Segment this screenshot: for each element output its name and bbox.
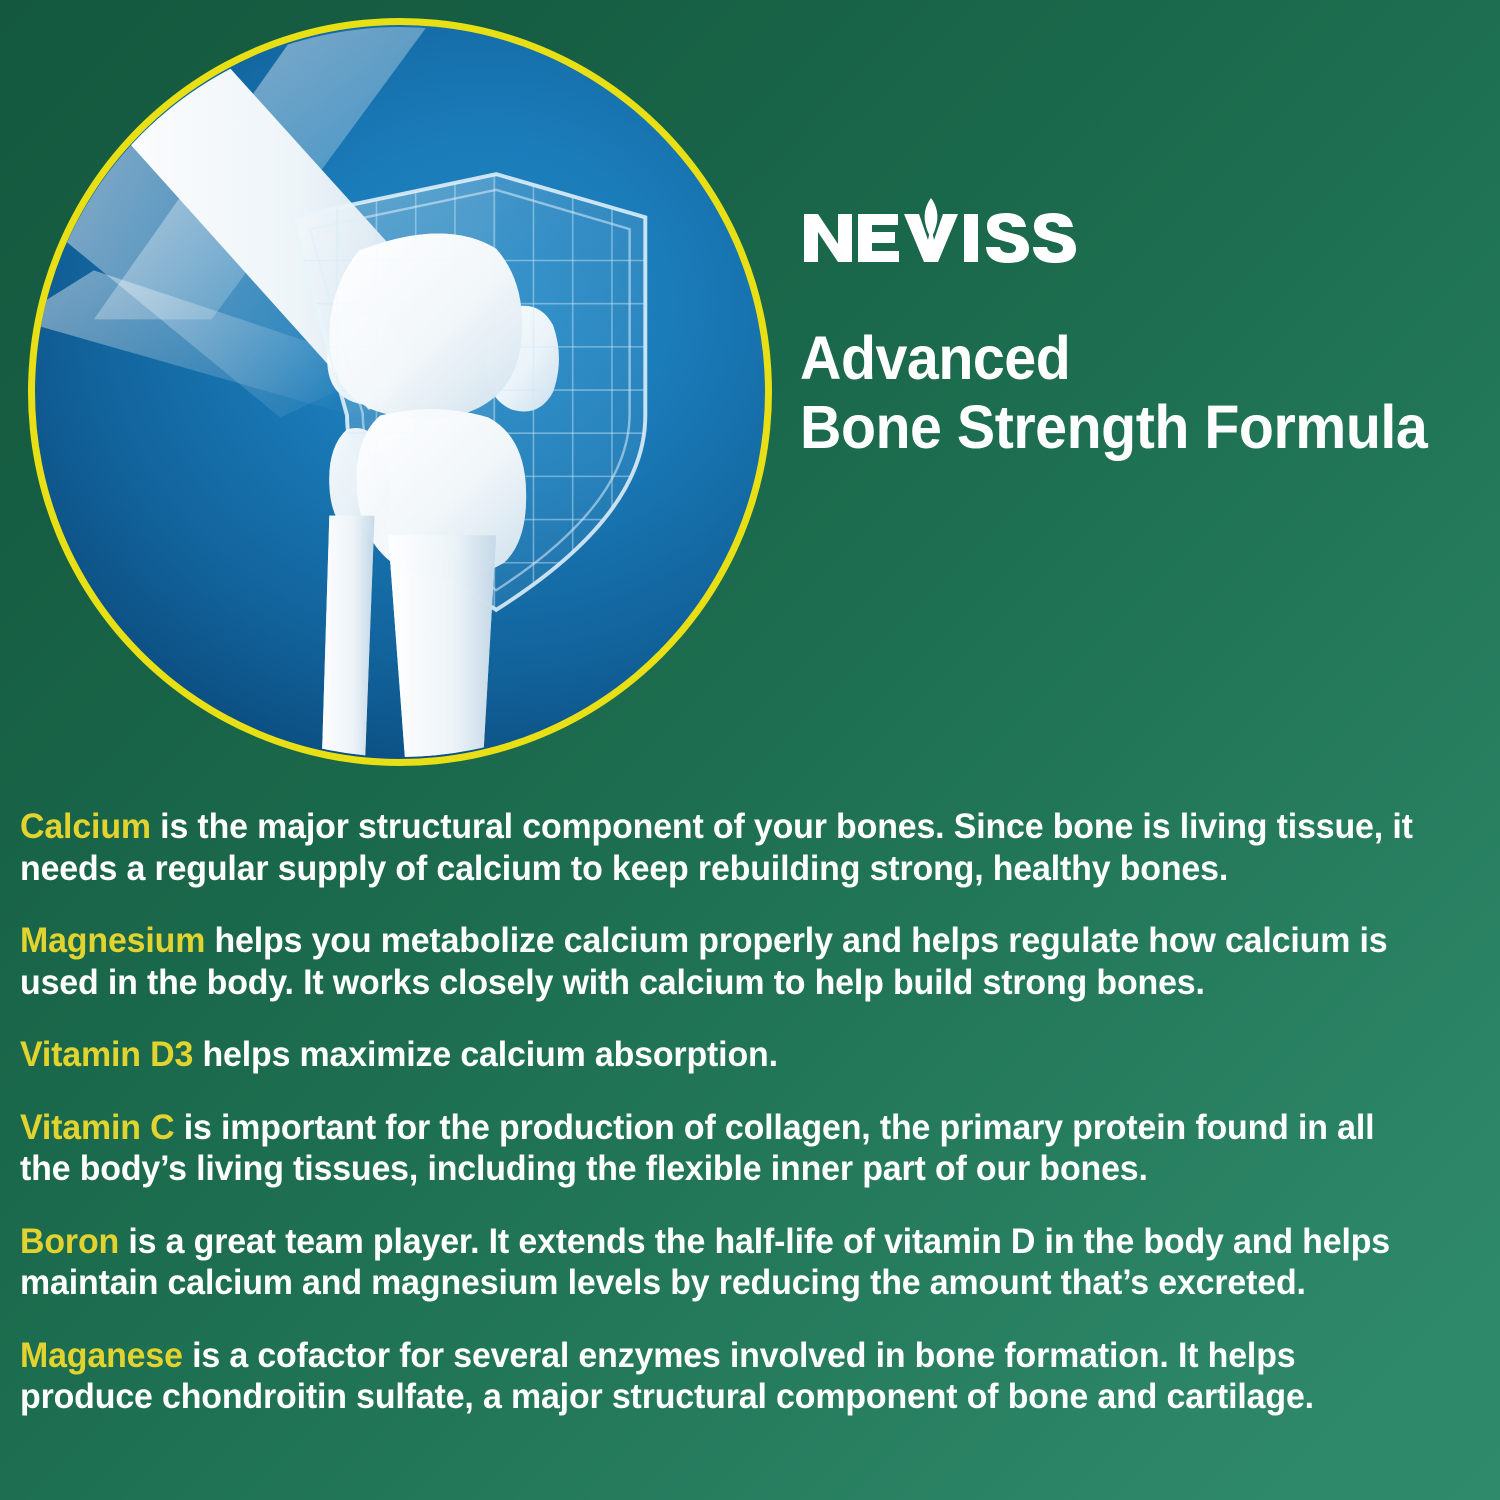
ingredient-text: is important for the production of colla… — [20, 1107, 1374, 1189]
ingredient-paragraph-magnesium: Magnesium helps you metabolize calcium p… — [20, 920, 1422, 1003]
ingredient-keyword: Vitamin C — [20, 1107, 174, 1147]
brand-block: Advanced Bone Strength Formula — [800, 196, 1490, 462]
page-title: Advanced Bone Strength Formula — [800, 324, 1449, 462]
product-info-poster: Advanced Bone Strength Formula Calcium i… — [0, 0, 1500, 1500]
ingredient-paragraph-calcium: Calcium is the major structural componen… — [20, 806, 1422, 889]
ingredient-text: is a great team player. It extends the h… — [20, 1221, 1390, 1303]
ingredient-keyword: Maganese — [20, 1335, 183, 1375]
ingredient-keyword: Magnesium — [20, 920, 205, 960]
ingredient-descriptions: Calcium is the major structural componen… — [20, 806, 1488, 1418]
ingredient-keyword: Boron — [20, 1221, 119, 1261]
ingredient-paragraph-maganese: Maganese is a cofactor for several enzym… — [20, 1335, 1422, 1418]
ingredient-text: is a cofactor for several enzymes involv… — [20, 1335, 1314, 1417]
hero-image-circle — [28, 18, 772, 766]
ingredient-text: helps you metabolize calcium properly an… — [20, 920, 1387, 1002]
neviss-wordmark-logo — [800, 196, 1100, 268]
ingredient-keyword: Vitamin D3 — [20, 1034, 193, 1074]
ingredient-paragraph-vitamin-c: Vitamin C is important for the productio… — [20, 1107, 1422, 1190]
ingredient-keyword: Calcium — [20, 806, 151, 846]
top-section: Advanced Bone Strength Formula — [0, 0, 1500, 790]
sprout-leaf-icon — [925, 198, 938, 238]
headline-line-1: Advanced — [800, 324, 1449, 393]
headline-line-2: Bone Strength Formula — [800, 393, 1449, 462]
ingredient-text: helps maximize calcium absorption. — [193, 1034, 778, 1074]
brand-logo — [800, 196, 1490, 274]
ingredient-paragraph-boron: Boron is a great team player. It extends… — [20, 1221, 1422, 1304]
knee-joint-shield-icon — [35, 25, 765, 759]
hero-image-inner — [35, 25, 765, 759]
ingredient-text: is the major structural component of you… — [20, 806, 1413, 888]
ingredient-paragraph-vitamin-d3: Vitamin D3 helps maximize calcium absorp… — [20, 1034, 1422, 1076]
